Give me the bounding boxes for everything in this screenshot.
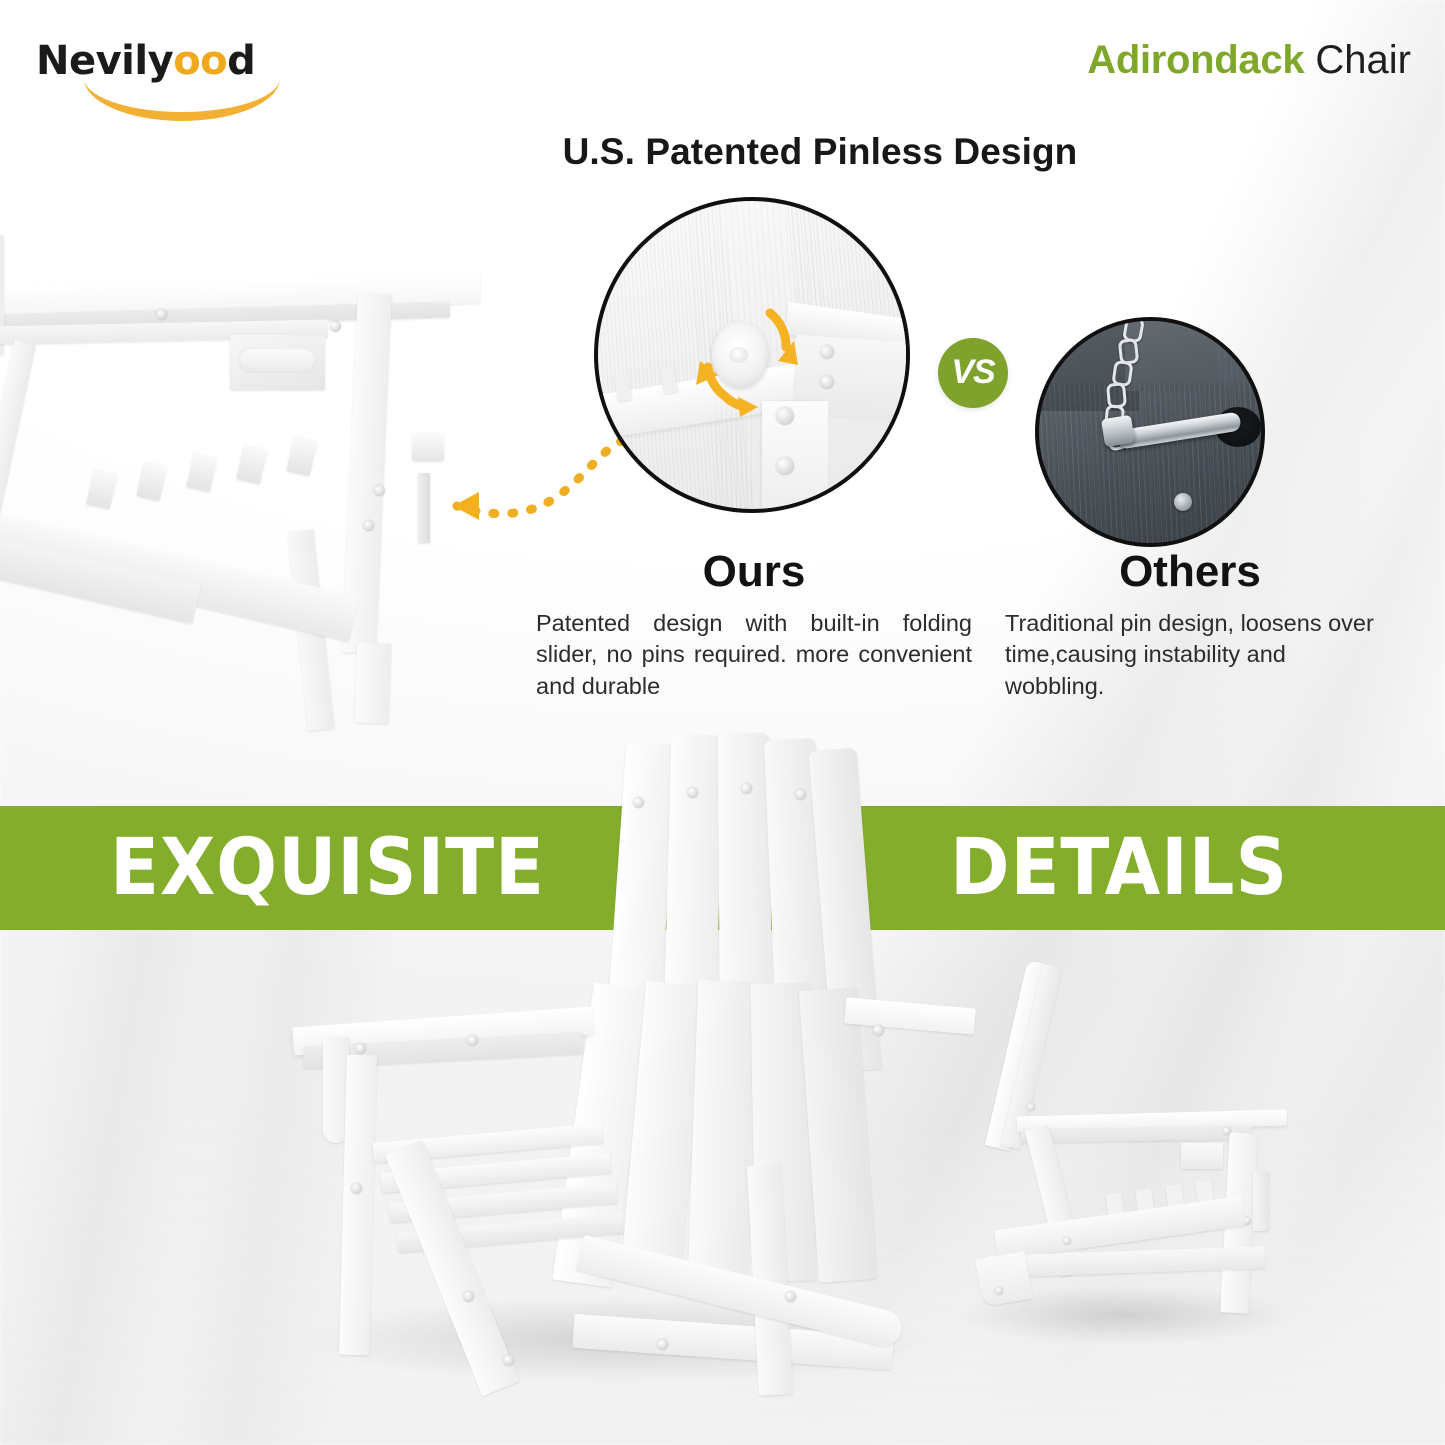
ours-title: Ours (536, 550, 972, 594)
brand-logo: Nevilyood (36, 33, 336, 111)
rotation-arrow-icon (682, 289, 812, 419)
others-title: Others (1005, 550, 1375, 594)
others-column: Others Traditional pin design, loosens o… (1005, 550, 1375, 702)
infographic-canvas: Nevilyood Adirondack Chair U.S. Patented… (0, 0, 1445, 1445)
section-heading: U.S. Patented Pinless Design (0, 131, 1445, 173)
product-title-plain: Chair (1315, 38, 1411, 82)
metal-pin-head (1101, 415, 1135, 447)
brand-logo-text: Nevilyood (36, 41, 255, 81)
side-chair-image (955, 955, 1315, 1330)
ours-photo-circle (594, 197, 910, 513)
ours-column: Ours Patented design with built-in foldi… (536, 550, 972, 702)
product-title: Adirondack Chair (1087, 40, 1411, 80)
product-title-brand: Adirondack (1087, 38, 1304, 82)
banner-right-word: DETAILS (950, 806, 1288, 930)
main-chair-image (285, 735, 975, 1385)
screw-icon (1174, 493, 1192, 511)
others-body: Traditional pin design, loosens over tim… (1005, 608, 1375, 702)
others-photo-circle (1035, 317, 1265, 547)
vs-badge-label: VS (951, 353, 994, 392)
ours-body: Patented design with built-in folding sl… (536, 608, 972, 702)
vs-badge: VS (938, 338, 1008, 408)
section-heading-text: U.S. Patented Pinless Design (563, 131, 1078, 173)
